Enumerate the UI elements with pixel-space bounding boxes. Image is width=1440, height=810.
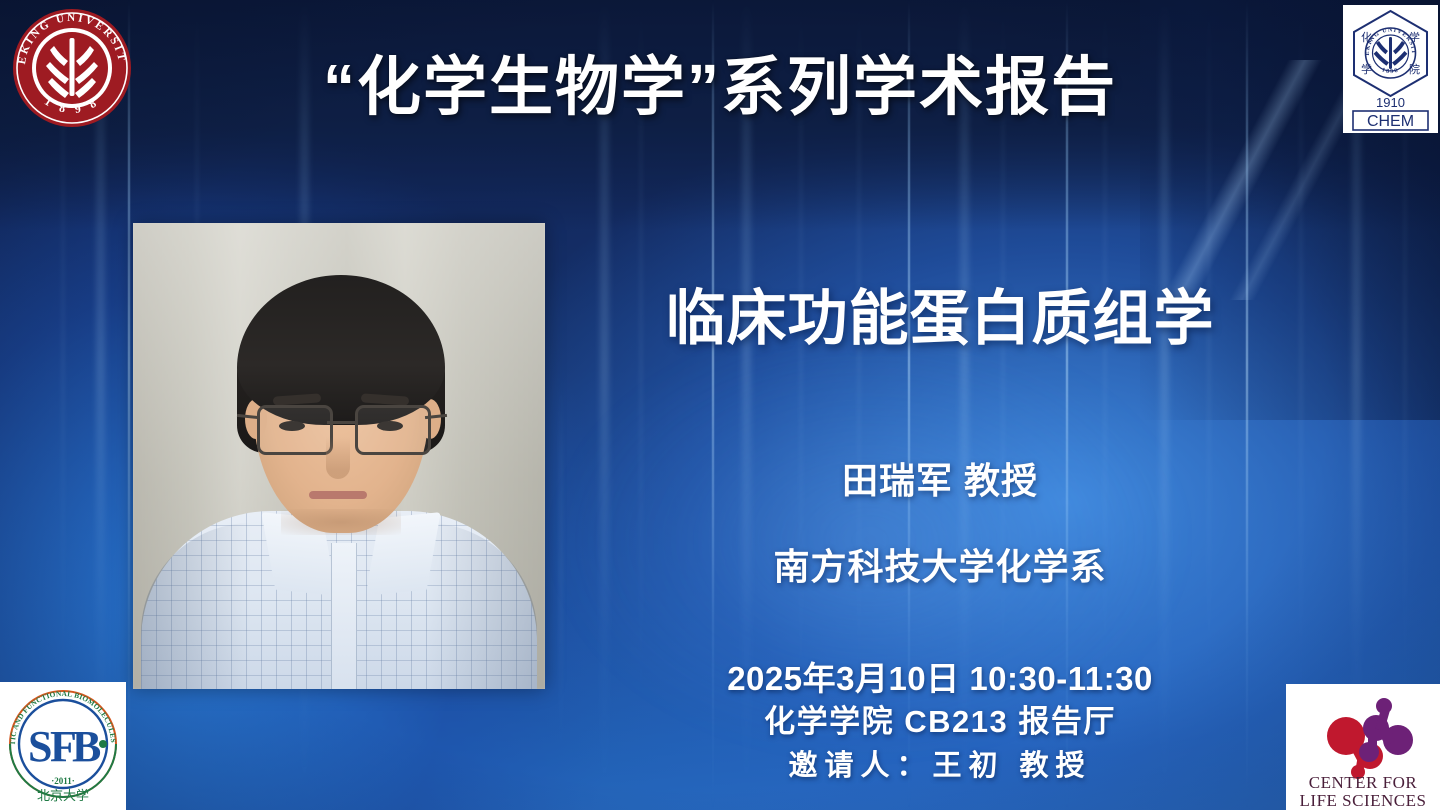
- svg-text:学: 学: [1409, 30, 1420, 44]
- event-details: 2025年3月10日 10:30-11:30 化学学院 CB213 报告厅 邀请…: [560, 658, 1320, 784]
- seminar-poster: “化学生物学”系列学术报告 临床功能蛋白质组学 田瑞军 教授 南方科技大学化学系: [0, 0, 1440, 810]
- page-title: “化学生物学”系列学术报告: [0, 36, 1440, 128]
- center-for-life-sciences-logo: CENTER FOR LIFE SCIENCES: [1286, 684, 1440, 810]
- svg-text:化: 化: [1361, 30, 1372, 44]
- event-venue: 化学学院 CB213 报告厅: [560, 703, 1320, 742]
- peking-university-seal-logo: PEKING UNIVERSITY 1 8 9 8: [10, 6, 134, 130]
- svg-text:学: 学: [1361, 62, 1372, 76]
- speaker-name: 田瑞军 教授: [560, 452, 1320, 504]
- svg-text:北京大学: 北京大学: [37, 788, 89, 804]
- svg-text:院: 院: [1409, 62, 1420, 76]
- svg-text:S: S: [28, 722, 52, 771]
- speaker-portrait: [133, 223, 545, 689]
- svg-text:LIFE SCIENCES: LIFE SCIENCES: [1300, 791, 1427, 810]
- event-host: 邀请人：王初 教授: [560, 748, 1320, 784]
- svg-text:1910: 1910: [1376, 95, 1405, 110]
- event-datetime: 2025年3月10日 10:30-11:30: [560, 658, 1320, 699]
- speaker-affiliation: 南方科技大学化学系: [560, 538, 1320, 590]
- svg-text:B: B: [72, 722, 101, 771]
- talk-title: 临床功能蛋白质组学: [560, 270, 1320, 357]
- sfb-center-logo: S F B SYNTHETIC AND FUNCTIONAL BIOMOLECU…: [0, 682, 126, 810]
- svg-text:·2011·: ·2011·: [51, 776, 75, 786]
- svg-text:CHEM: CHEM: [1367, 113, 1414, 130]
- svg-text:CENTER FOR: CENTER FOR: [1309, 773, 1418, 792]
- pku-chemistry-college-logo: PEKING UNIVERSITY 1898 化 学 学 院 1910 CHEM: [1343, 5, 1438, 133]
